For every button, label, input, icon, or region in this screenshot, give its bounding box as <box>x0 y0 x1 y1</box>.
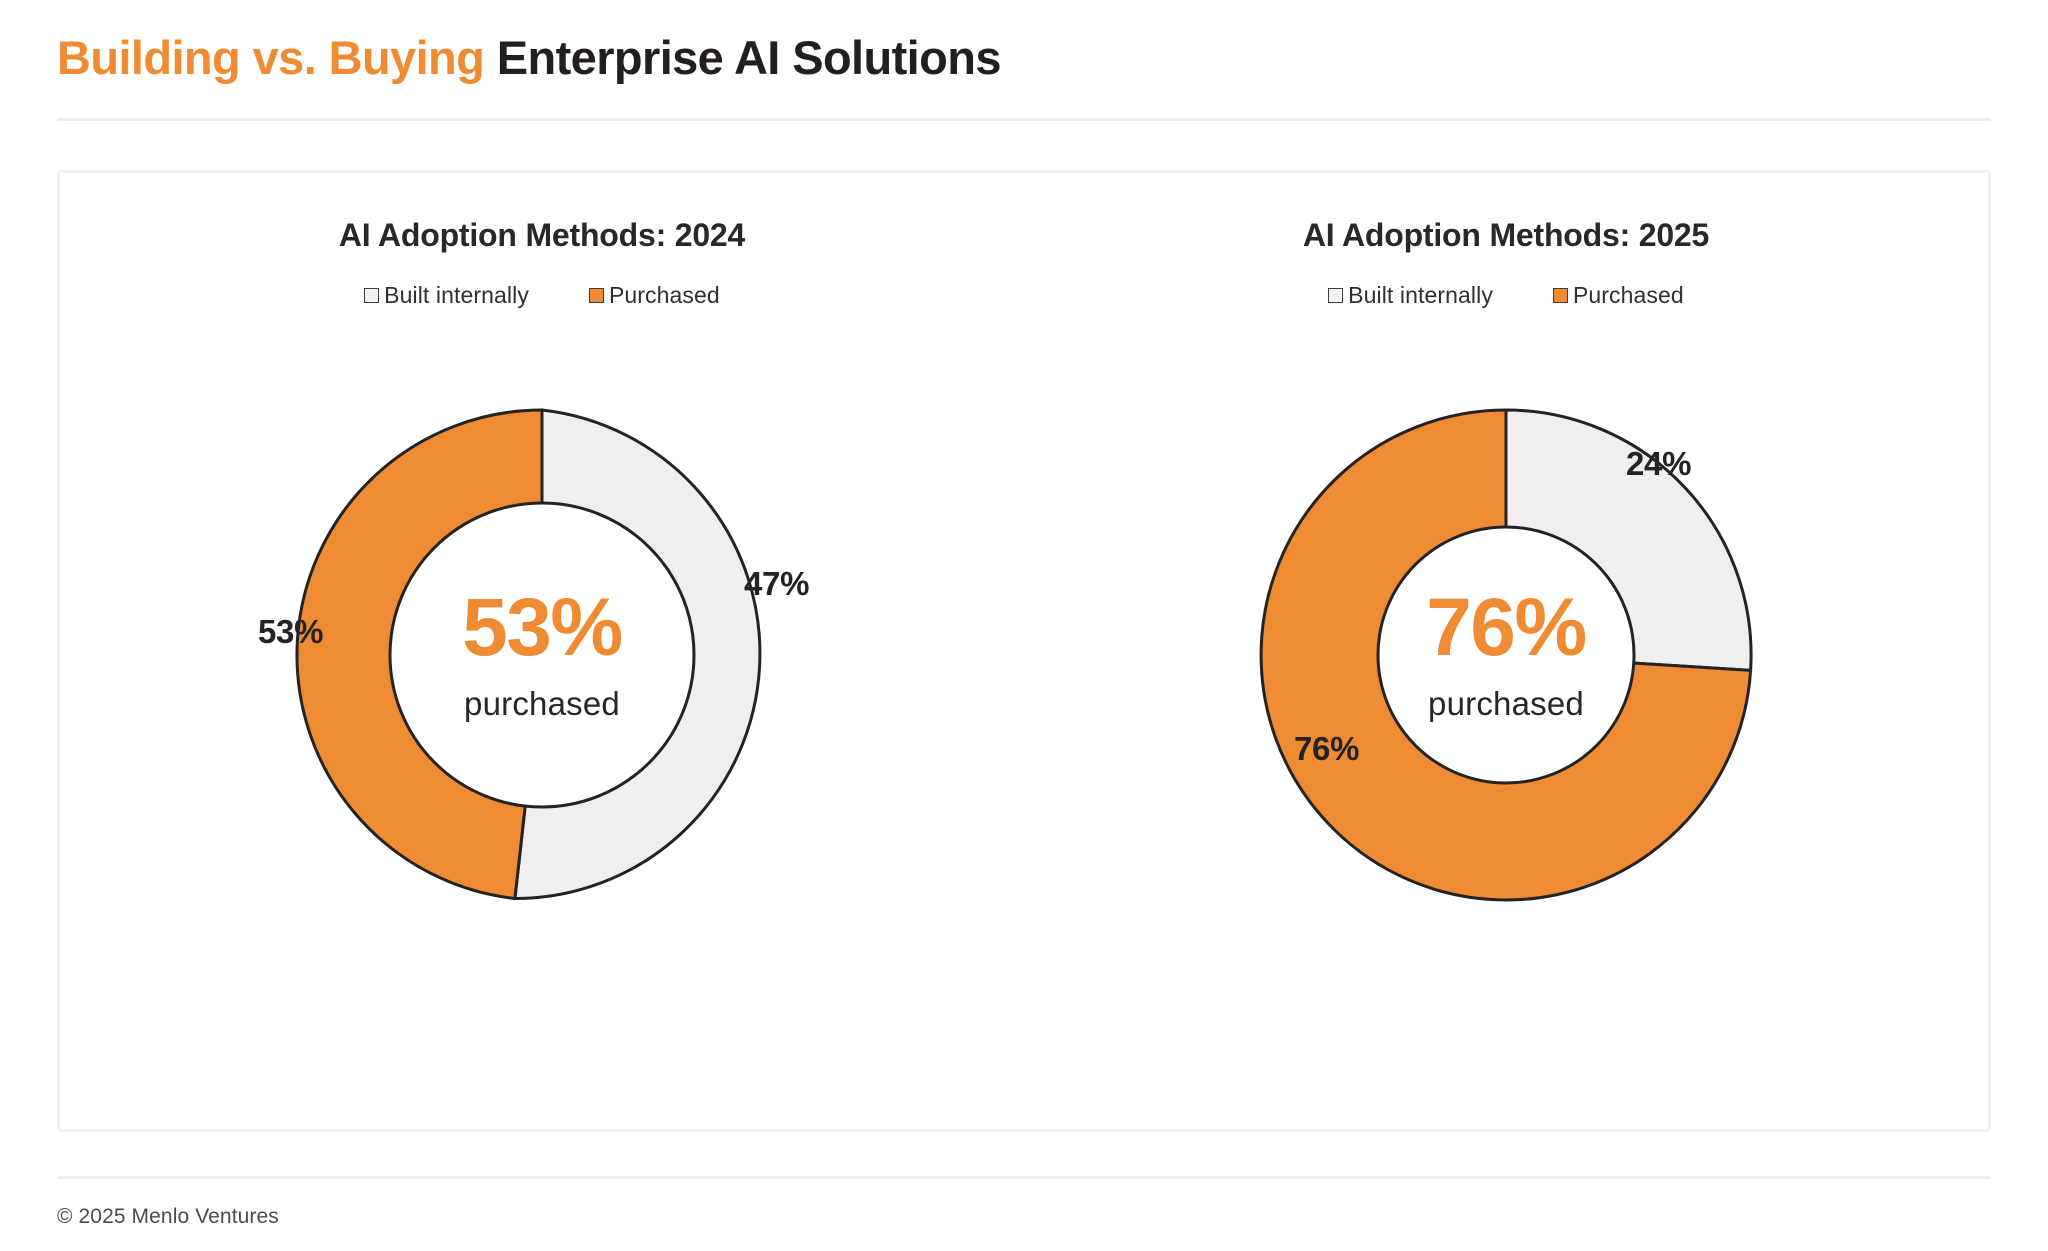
page-title-rest: Enterprise AI Solutions <box>497 31 1001 84</box>
legend-label-built-internally: Built internally <box>1348 282 1493 309</box>
donut-hole-2024 <box>390 503 694 807</box>
charts-row: AI Adoption Methods: 2024 Built internal… <box>60 173 1988 1129</box>
chart-title-2025: AI Adoption Methods: 2025 <box>1303 217 1709 254</box>
slide-root: Building vs. Buying Enterprise AI Soluti… <box>0 0 2048 1251</box>
legend-swatch-built-internally-icon <box>1328 288 1343 303</box>
legend-item-purchased[interactable]: Purchased <box>589 282 720 309</box>
donut-chart-2025: 76% purchased 24% 76% <box>1186 335 1826 975</box>
legend-swatch-purchased-icon <box>1553 288 1568 303</box>
chart-legend-2025: Built internally Purchased <box>1328 282 1684 309</box>
charts-card: AI Adoption Methods: 2024 Built internal… <box>57 170 1991 1132</box>
legend-item-built-internally[interactable]: Built internally <box>1328 282 1493 309</box>
slice-label-built-internally-2025: 24% <box>1626 445 1691 483</box>
page-title: Building vs. Buying Enterprise AI Soluti… <box>57 32 1001 84</box>
header-divider <box>57 118 1991 121</box>
donut-chart-2024: 53% purchased 53% 47% <box>222 335 862 975</box>
chart-title-2024: AI Adoption Methods: 2024 <box>339 217 745 254</box>
page-title-accent: Building vs. Buying <box>57 31 484 84</box>
donut-svg-2025 <box>1186 335 1826 975</box>
chart-panel-2024: AI Adoption Methods: 2024 Built internal… <box>60 173 1024 1129</box>
chart-legend-2024: Built internally Purchased <box>364 282 720 309</box>
legend-swatch-built-internally-icon <box>364 288 379 303</box>
legend-item-purchased[interactable]: Purchased <box>1553 282 1684 309</box>
legend-item-built-internally[interactable]: Built internally <box>364 282 529 309</box>
footer-divider <box>57 1176 1991 1179</box>
legend-swatch-purchased-icon <box>589 288 604 303</box>
legend-label-built-internally: Built internally <box>384 282 529 309</box>
legend-label-purchased: Purchased <box>1573 282 1684 309</box>
slice-label-purchased-2025: 76% <box>1294 730 1359 768</box>
legend-label-purchased: Purchased <box>609 282 720 309</box>
slice-label-purchased-2024: 53% <box>258 613 323 651</box>
donut-svg-2024 <box>222 335 862 975</box>
slice-label-built-internally-2024: 47% <box>744 565 809 603</box>
chart-panel-2025: AI Adoption Methods: 2025 Built internal… <box>1024 173 1988 1129</box>
footer-copyright: © 2025 Menlo Ventures <box>57 1205 279 1229</box>
donut-hole-2025 <box>1378 527 1634 783</box>
